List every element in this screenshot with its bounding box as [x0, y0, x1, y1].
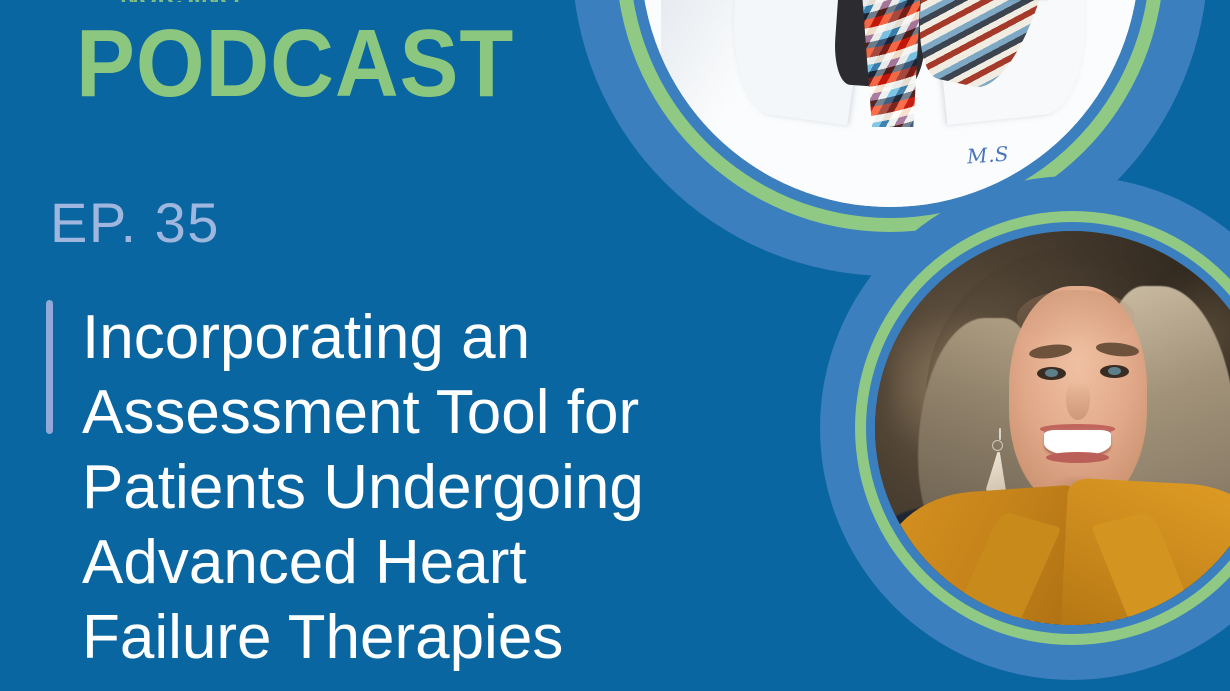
podcast-episode-cover: M.S — [0, 0, 1230, 691]
guest-nose — [1066, 381, 1090, 420]
episode-title-line: Incorporating an — [82, 300, 802, 375]
guest-earring-hook — [999, 428, 1001, 440]
host-coat-embroidery: M.S — [967, 142, 1011, 169]
title-accent-bar — [46, 300, 53, 434]
episode-title-line: Advanced Heart — [82, 525, 802, 600]
brand-name-cropped: NURSING — [120, 0, 400, 2]
episode-number-label: EP. 35 — [50, 190, 220, 255]
podcast-wordmark: PODCAST — [76, 18, 514, 110]
guest-forehead-shading — [1017, 290, 1135, 345]
episode-title-line: Patients Undergoing — [82, 450, 802, 525]
episode-title-line: Assessment Tool for — [82, 375, 802, 450]
guest-lower-lip — [1046, 452, 1109, 463]
guest-portrait-photo — [875, 231, 1230, 625]
episode-title: Incorporating an Assessment Tool for Pat… — [82, 300, 802, 675]
episode-title-line: Failure Therapies — [82, 600, 802, 675]
